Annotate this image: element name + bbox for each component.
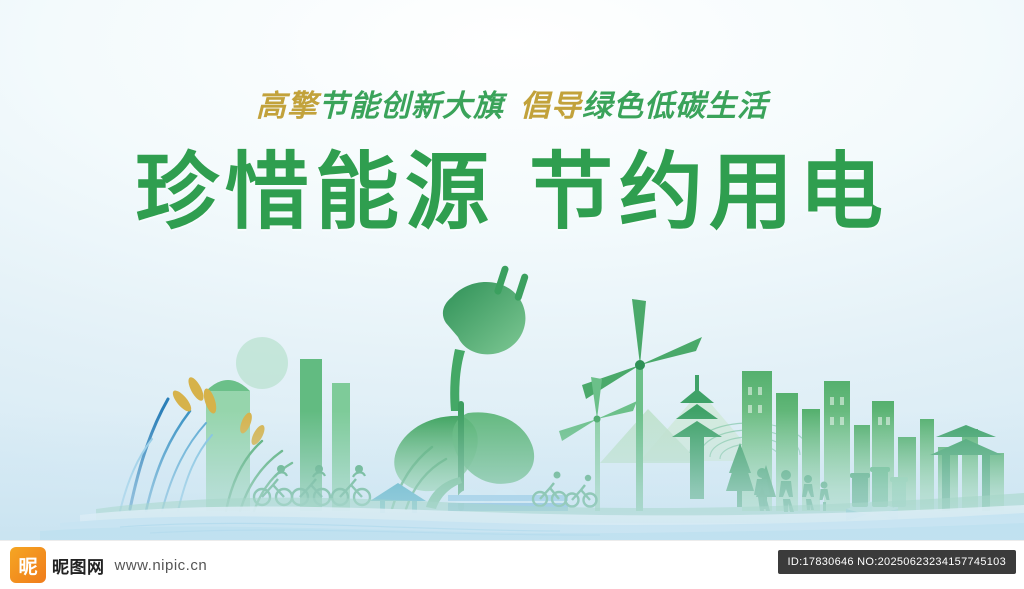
image-id-badge: ID:17830646 NO:20250623234157745103 — [778, 550, 1016, 574]
subheadline-part1: 高擎 — [256, 90, 318, 123]
main-title-right: 节约用电 — [529, 145, 889, 239]
pagoda — [672, 375, 722, 499]
subheadline-part3: 倡导 — [520, 90, 582, 123]
subheadline-part4: 绿色低碳生活 — [582, 90, 768, 123]
headline-block: 高擎节能创新大旗倡导绿色低碳生活 珍惜能源节约用电 — [0, 92, 1024, 236]
scenery-illustration — [0, 241, 1024, 541]
site-logo[interactable]: 昵 昵图网 www.nipic.cn — [10, 547, 207, 583]
plug-icon — [443, 265, 529, 411]
sun-circle — [236, 337, 288, 389]
footer-bar: 昵 昵图网 www.nipic.cn ID:17830646 NO:202506… — [0, 540, 1024, 589]
main-title-left: 珍惜能源 — [135, 145, 495, 239]
main-title: 珍惜能源节约用电 — [0, 148, 1024, 236]
logo-text: 昵图网 — [52, 553, 105, 578]
subheadline: 高擎节能创新大旗倡导绿色低碳生活 — [0, 92, 1024, 122]
grass-reeds — [120, 399, 212, 511]
logo-url: www.nipic.cn — [115, 557, 208, 574]
poster-artwork: 高擎节能创新大旗倡导绿色低碳生活 珍惜能源节约用电 — [0, 0, 1024, 541]
logo-icon: 昵 — [10, 547, 46, 583]
poster-image: 高擎节能创新大旗倡导绿色低碳生活 珍惜能源节约用电 — [0, 0, 1024, 589]
subheadline-part2: 节能创新大旗 — [318, 90, 504, 123]
